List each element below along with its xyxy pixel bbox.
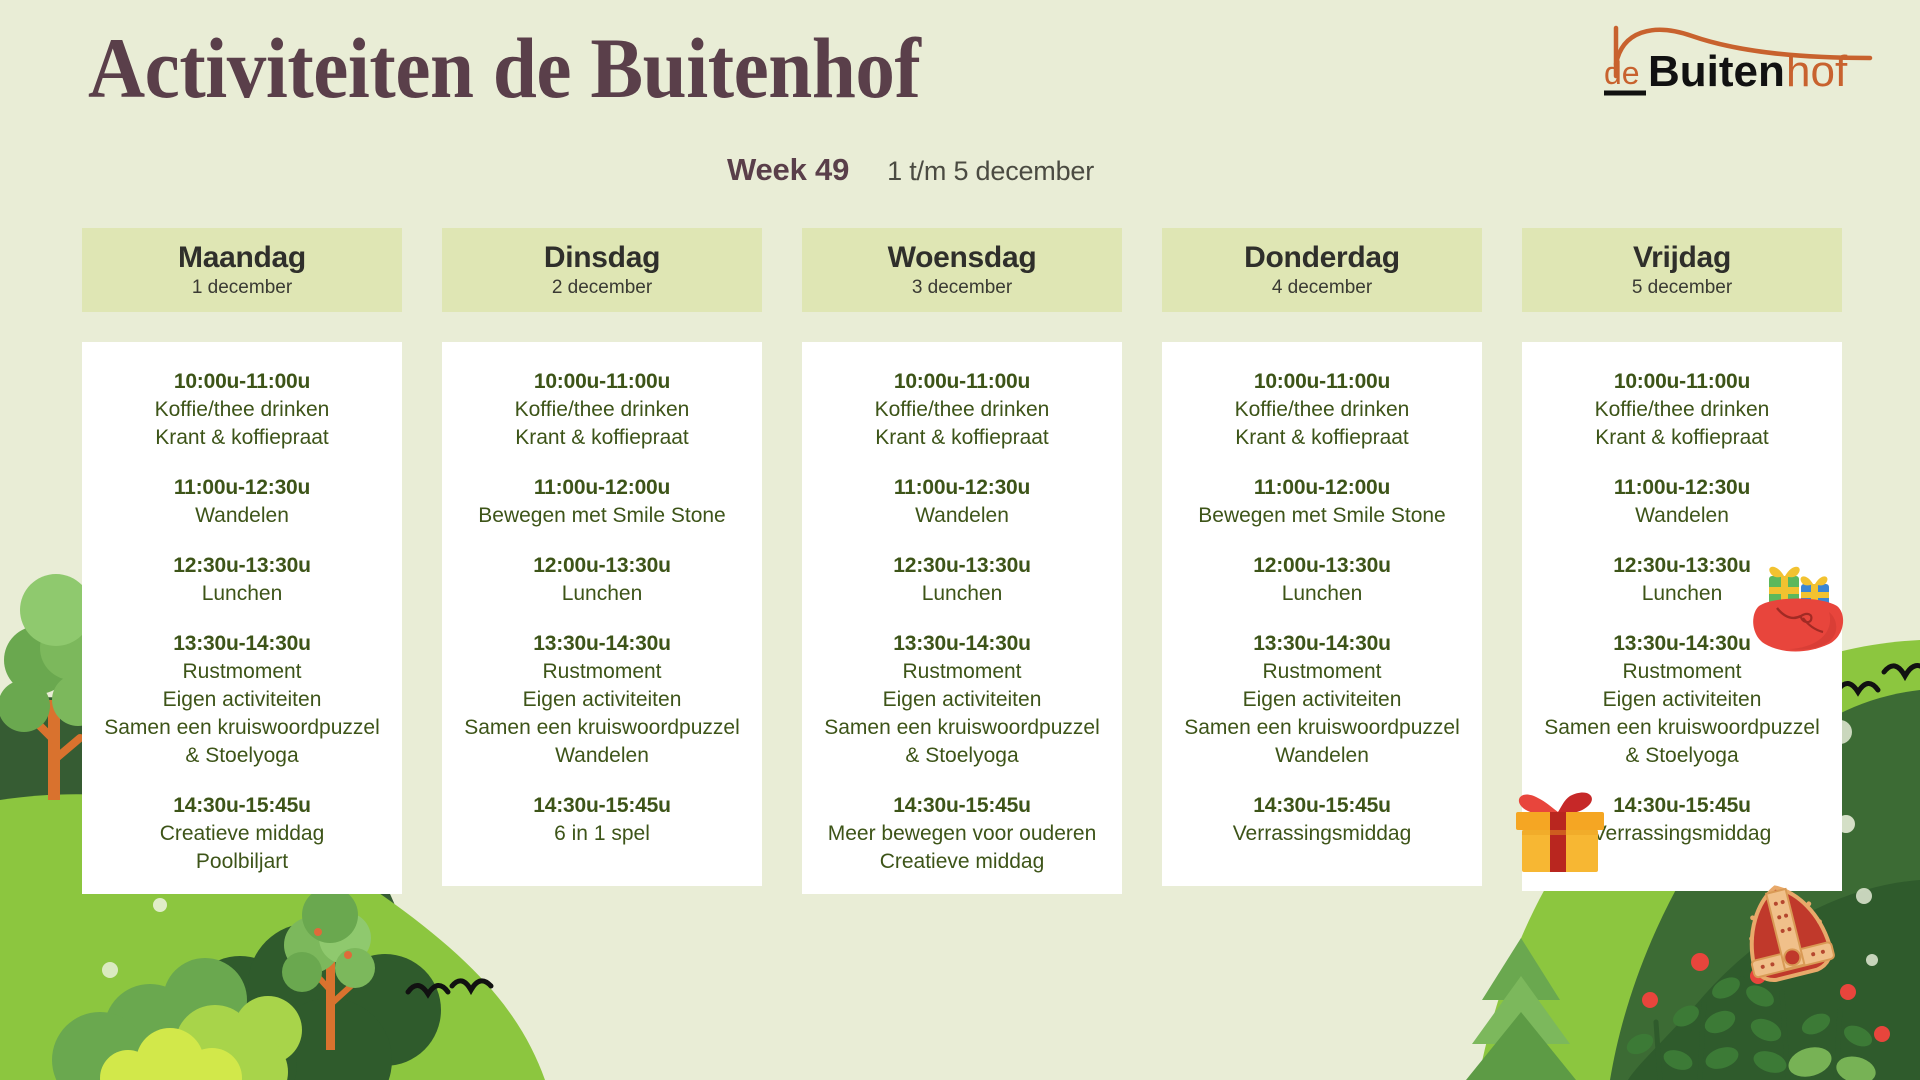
slot-activity: Verrassingsmiddag xyxy=(1170,820,1474,848)
day-date: 1 december xyxy=(192,277,292,299)
slot-time: 10:00u-11:00u xyxy=(1170,368,1474,396)
slot-activity: Eigen activiteiten xyxy=(1530,686,1834,714)
day-date: 3 december xyxy=(912,277,1012,299)
slot-activity: 6 in 1 spel xyxy=(450,820,754,848)
slot-activity: Rustmoment xyxy=(810,658,1114,686)
activity-slot: 13:30u-14:30uRustmomentEigen activiteite… xyxy=(810,630,1114,770)
activity-slot: 11:00u-12:30uWandelen xyxy=(810,474,1114,530)
slot-activity: Creatieve middag xyxy=(810,848,1114,876)
slot-time: 10:00u-11:00u xyxy=(90,368,394,396)
week-label: Week 49 xyxy=(727,152,849,188)
slot-activity: Krant & koffiepraat xyxy=(1170,424,1474,452)
slot-time: 13:30u-14:30u xyxy=(810,630,1114,658)
day-card: 10:00u-11:00uKoffie/thee drinkenKrant & … xyxy=(82,342,402,894)
slot-activity: Wandelen xyxy=(450,742,754,770)
slot-activity: Krant & koffiepraat xyxy=(1530,424,1834,452)
day-column: Donderdag4 december10:00u-11:00uKoffie/t… xyxy=(1162,228,1482,894)
slot-activity: Rustmoment xyxy=(1170,658,1474,686)
slot-activity: Krant & koffiepraat xyxy=(450,424,754,452)
day-name: Donderdag xyxy=(1244,241,1400,275)
slot-activity: Lunchen xyxy=(1170,580,1474,608)
day-column: Maandag1 december10:00u-11:00uKoffie/the… xyxy=(82,228,402,894)
sinterklaas-mitre-icon xyxy=(1728,880,1846,992)
slot-activity: Rustmoment xyxy=(1530,658,1834,686)
day-card: 10:00u-11:00uKoffie/thee drinkenKrant & … xyxy=(1522,342,1842,891)
slot-activity: & Stoelyoga xyxy=(1530,742,1834,770)
slot-activity: Verrassingsmiddag xyxy=(1530,820,1834,848)
day-date: 2 december xyxy=(552,277,652,299)
birds-icon xyxy=(408,981,491,994)
slot-activity: Wandelen xyxy=(1530,502,1834,530)
slot-activity: Samen een kruiswoordpuzzel xyxy=(1530,714,1834,742)
slot-time: 14:30u-15:45u xyxy=(1170,792,1474,820)
slot-time: 10:00u-11:00u xyxy=(1530,368,1834,396)
day-header-maandag: Maandag1 december xyxy=(82,228,402,312)
day-card: 10:00u-11:00uKoffie/thee drinkenKrant & … xyxy=(802,342,1122,894)
slot-activity: Eigen activiteiten xyxy=(90,686,394,714)
slot-activity: Samen een kruiswoordpuzzel xyxy=(90,714,394,742)
activity-slot: 10:00u-11:00uKoffie/thee drinkenKrant & … xyxy=(1530,368,1834,452)
activity-slot: 12:00u-13:30uLunchen xyxy=(1170,552,1474,608)
activity-slot: 14:30u-15:45uCreatieve middagPoolbiljart xyxy=(90,792,394,876)
slot-activity: Lunchen xyxy=(450,580,754,608)
slot-activity: Poolbiljart xyxy=(90,848,394,876)
poster-header: Activiteiten de Buitenhof de Buiten hof … xyxy=(0,0,1920,210)
slot-activity: & Stoelyoga xyxy=(90,742,394,770)
day-card: 10:00u-11:00uKoffie/thee drinkenKrant & … xyxy=(1162,342,1482,886)
slot-time: 12:30u-13:30u xyxy=(1530,552,1834,580)
activity-slot: 12:30u-13:30uLunchen xyxy=(1530,552,1834,608)
activity-slot: 13:30u-14:30uRustmomentEigen activiteite… xyxy=(1530,630,1834,770)
slot-activity: Wandelen xyxy=(810,502,1114,530)
day-header-woensdag: Woensdag3 december xyxy=(802,228,1122,312)
day-header-donderdag: Donderdag4 december xyxy=(1162,228,1482,312)
slot-time: 12:00u-13:30u xyxy=(450,552,754,580)
slot-activity: Eigen activiteiten xyxy=(450,686,754,714)
activity-slot: 11:00u-12:30uWandelen xyxy=(90,474,394,530)
activity-slot: 10:00u-11:00uKoffie/thee drinkenKrant & … xyxy=(90,368,394,452)
slot-time: 11:00u-12:30u xyxy=(810,474,1114,502)
day-name: Woensdag xyxy=(888,241,1037,275)
day-name: Vrijdag xyxy=(1633,241,1731,275)
activity-slot: 12:30u-13:30uLunchen xyxy=(90,552,394,608)
slot-activity: Krant & koffiepraat xyxy=(90,424,394,452)
slot-time: 13:30u-14:30u xyxy=(1530,630,1834,658)
slot-time: 11:00u-12:00u xyxy=(450,474,754,502)
slot-activity: Eigen activiteiten xyxy=(1170,686,1474,714)
activity-slot: 10:00u-11:00uKoffie/thee drinkenKrant & … xyxy=(450,368,754,452)
day-name: Dinsdag xyxy=(544,241,660,275)
slot-activity: Koffie/thee drinken xyxy=(1530,396,1834,424)
slot-time: 11:00u-12:30u xyxy=(1530,474,1834,502)
day-column: Vrijdag5 december10:00u-11:00uKoffie/the… xyxy=(1522,228,1842,894)
slot-activity: Lunchen xyxy=(90,580,394,608)
slot-activity: Lunchen xyxy=(1530,580,1834,608)
slot-activity: Samen een kruiswoordpuzzel xyxy=(450,714,754,742)
activity-slot: 10:00u-11:00uKoffie/thee drinkenKrant & … xyxy=(1170,368,1474,452)
slot-time: 13:30u-14:30u xyxy=(450,630,754,658)
slot-activity: Bewegen met Smile Stone xyxy=(450,502,754,530)
week-date-range: 1 t/m 5 december xyxy=(887,156,1094,187)
activity-slot: 13:30u-14:30uRustmomentEigen activiteite… xyxy=(90,630,394,770)
slot-time: 12:00u-13:30u xyxy=(1170,552,1474,580)
slot-activity: Samen een kruiswoordpuzzel xyxy=(810,714,1114,742)
slot-time: 12:30u-13:30u xyxy=(810,552,1114,580)
activity-slot: 14:30u-15:45uMeer bewegen voor ouderenCr… xyxy=(810,792,1114,876)
slot-activity: Wandelen xyxy=(90,502,394,530)
slot-time: 13:30u-14:30u xyxy=(90,630,394,658)
slot-activity: Eigen activiteiten xyxy=(810,686,1114,714)
svg-text:de: de xyxy=(1604,55,1640,91)
activities-grid: Maandag1 december10:00u-11:00uKoffie/the… xyxy=(82,228,1842,894)
slot-time: 13:30u-14:30u xyxy=(1170,630,1474,658)
svg-text:Buiten: Buiten xyxy=(1648,47,1785,96)
activity-slot: 13:30u-14:30uRustmomentEigen activiteite… xyxy=(450,630,754,770)
activity-slot: 14:30u-15:45uVerrassingsmiddag xyxy=(1530,792,1834,848)
slot-activity: Koffie/thee drinken xyxy=(90,396,394,424)
activity-slot: 11:00u-12:30uWandelen xyxy=(1530,474,1834,530)
day-date: 5 december xyxy=(1632,277,1732,299)
slot-time: 14:30u-15:45u xyxy=(1530,792,1834,820)
birds-icon xyxy=(1838,666,1920,692)
activity-slot: 14:30u-15:45u6 in 1 spel xyxy=(450,792,754,848)
day-header-vrijdag: Vrijdag5 december xyxy=(1522,228,1842,312)
day-name: Maandag xyxy=(178,241,306,275)
slot-activity: & Stoelyoga xyxy=(810,742,1114,770)
slot-activity: Wandelen xyxy=(1170,742,1474,770)
poster-canvas: Activiteiten de Buitenhof de Buiten hof … xyxy=(0,0,1920,1080)
activity-slot: 14:30u-15:45uVerrassingsmiddag xyxy=(1170,792,1474,848)
activity-slot: 12:00u-13:30uLunchen xyxy=(450,552,754,608)
slot-time: 14:30u-15:45u xyxy=(450,792,754,820)
slot-activity: Bewegen met Smile Stone xyxy=(1170,502,1474,530)
day-column: Dinsdag2 december10:00u-11:00uKoffie/the… xyxy=(442,228,762,894)
slot-activity: Meer bewegen voor ouderen xyxy=(810,820,1114,848)
day-header-dinsdag: Dinsdag2 december xyxy=(442,228,762,312)
slot-activity: Samen een kruiswoordpuzzel xyxy=(1170,714,1474,742)
slot-activity: Koffie/thee drinken xyxy=(1170,396,1474,424)
week-info: Week 49 1 t/m 5 december xyxy=(727,152,1094,188)
activity-slot: 13:30u-14:30uRustmomentEigen activiteite… xyxy=(1170,630,1474,770)
slot-activity: Koffie/thee drinken xyxy=(810,396,1114,424)
day-date: 4 december xyxy=(1272,277,1372,299)
slot-time: 10:00u-11:00u xyxy=(450,368,754,396)
page-title: Activiteiten de Buitenhof xyxy=(88,18,920,118)
slot-time: 11:00u-12:30u xyxy=(90,474,394,502)
slot-time: 14:30u-15:45u xyxy=(810,792,1114,820)
activity-slot: 11:00u-12:00uBewegen met Smile Stone xyxy=(450,474,754,530)
slot-activity: Rustmoment xyxy=(450,658,754,686)
slot-activity: Creatieve middag xyxy=(90,820,394,848)
slot-activity: Krant & koffiepraat xyxy=(810,424,1114,452)
activity-slot: 12:30u-13:30uLunchen xyxy=(810,552,1114,608)
svg-text:hof: hof xyxy=(1786,47,1848,96)
activity-slot: 10:00u-11:00uKoffie/thee drinkenKrant & … xyxy=(810,368,1114,452)
day-card: 10:00u-11:00uKoffie/thee drinkenKrant & … xyxy=(442,342,762,886)
slot-activity: Koffie/thee drinken xyxy=(450,396,754,424)
slot-time: 10:00u-11:00u xyxy=(810,368,1114,396)
slot-activity: Rustmoment xyxy=(90,658,394,686)
slot-activity: Lunchen xyxy=(810,580,1114,608)
slot-time: 11:00u-12:00u xyxy=(1170,474,1474,502)
buitenhof-logo: de Buiten hof xyxy=(1588,14,1878,100)
activity-slot: 11:00u-12:00uBewegen met Smile Stone xyxy=(1170,474,1474,530)
slot-time: 14:30u-15:45u xyxy=(90,792,394,820)
slot-time: 12:30u-13:30u xyxy=(90,552,394,580)
day-column: Woensdag3 december10:00u-11:00uKoffie/th… xyxy=(802,228,1122,894)
